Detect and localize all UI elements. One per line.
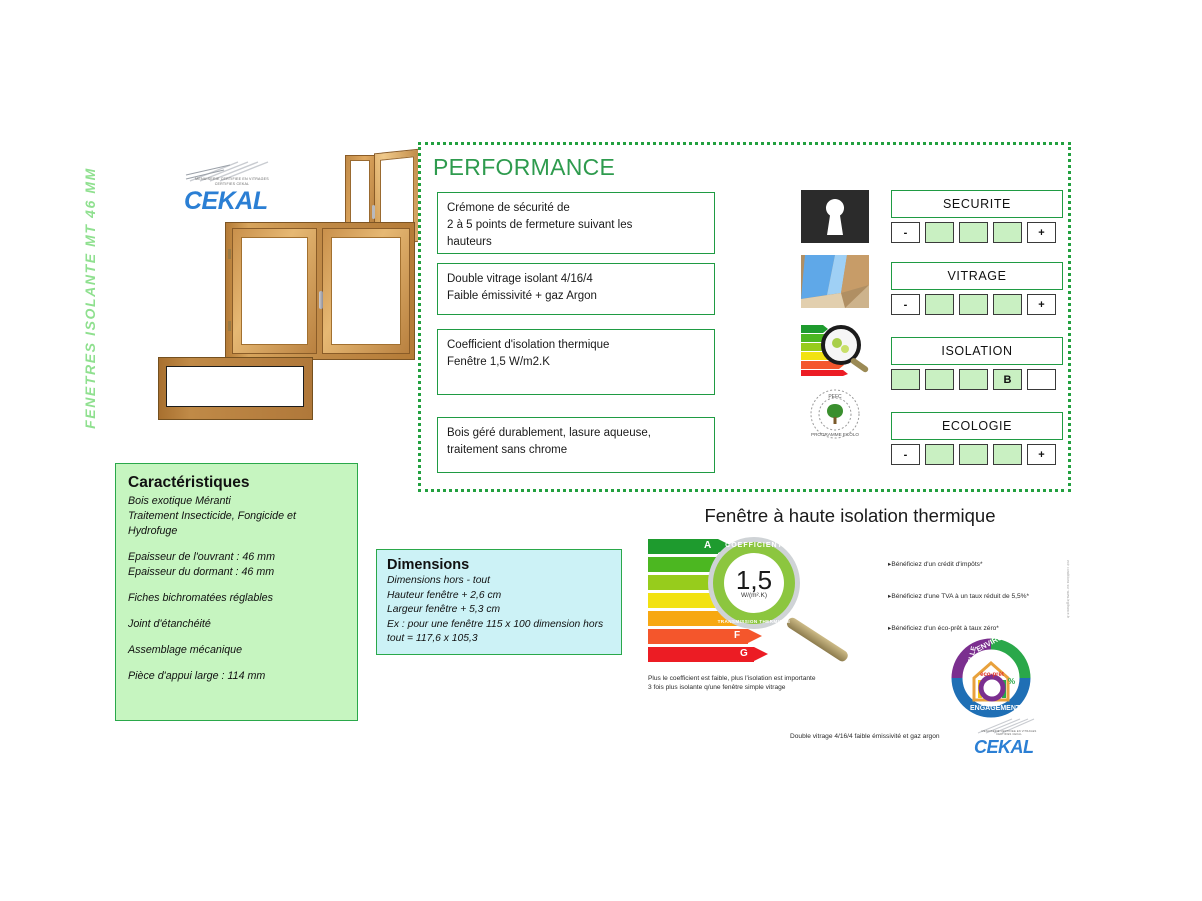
rating-cell-minus[interactable]: -: [891, 444, 920, 465]
energy-rating-chart: A F G COEFFICIE: [648, 537, 823, 669]
rating-cell[interactable]: [959, 294, 988, 315]
caracteristiques-line: Bois exotique Méranti: [128, 494, 345, 509]
window-handle-icon: [319, 291, 323, 309]
benefit-item: Bénéficiez d'un éco-prêt à taux zéro*: [888, 624, 1029, 632]
rating-scale-securite[interactable]: - +: [891, 222, 1056, 243]
dimensions-line: tout = 117,6 x 105,3: [387, 632, 611, 647]
window-glass-icon: [801, 255, 869, 308]
cekal-microtext: MENUISERIE CERTIFIEE EN VITRAGES CERTIFI…: [976, 730, 1042, 737]
coefficient-magnifier: COEFFICIENT TRANSMISSION THERMIQUE 1,5 W…: [708, 537, 800, 629]
thermal-footnote: Plus le coefficient est faible, plus l'i…: [648, 674, 816, 692]
cekal-caption: Double vitrage 4/16/4 faible émissivité …: [790, 733, 940, 740]
keyhole-icon: [801, 190, 869, 243]
window-photo-transom: [158, 357, 313, 420]
coefficient-ring-bottom-label: TRANSMISSION THERMIQUE: [708, 619, 800, 624]
window-hinge-icon: [228, 249, 231, 259]
rating-scale-ecologie[interactable]: - +: [891, 444, 1056, 465]
caracteristiques-title: Caractéristiques: [128, 474, 345, 492]
rating-cell[interactable]: [959, 222, 988, 243]
window-photo-double-casement: [225, 222, 415, 360]
dimensions-line: Largeur fenêtre + 5,3 cm: [387, 603, 611, 618]
caracteristiques-line: Joint d'étanchéité: [128, 617, 345, 632]
rating-cell[interactable]: [891, 369, 920, 390]
benefit-item: Bénéficiez d'un crédit d'impôts*: [888, 560, 1029, 568]
rating-cell[interactable]: [925, 222, 954, 243]
rating-cell[interactable]: [925, 444, 954, 465]
rating-cell[interactable]: [959, 369, 988, 390]
energy-magnifier-icon: [801, 323, 869, 376]
window-handle-icon: [372, 205, 375, 219]
caracteristiques-line: Fiches bichromatées réglables: [128, 591, 345, 606]
dimensions-line: Dimensions hors - tout: [387, 574, 611, 589]
window-sash-right: [322, 228, 410, 354]
dimensions-panel: Dimensions Dimensions hors - tout Hauteu…: [376, 549, 622, 655]
pefc-tree-icon: PEFC PROGRAMME ECOLO: [801, 388, 869, 441]
coefficient-value: 1,5: [736, 568, 772, 592]
svg-text:PROGRAMME ECOLO: PROGRAMME ECOLO: [811, 432, 859, 437]
svg-text:%: %: [1008, 677, 1015, 686]
rating-cell-plus[interactable]: +: [1027, 222, 1056, 243]
rating-label-vitrage: VITRAGE: [891, 262, 1063, 290]
rating-cell-minus[interactable]: -: [891, 294, 920, 315]
rating-cell[interactable]: [993, 294, 1022, 315]
rating-cell[interactable]: [993, 222, 1022, 243]
performance-panel: PERFORMANCE Crémone de sécurité de 2 à 5…: [418, 142, 1071, 492]
caracteristiques-line: Epaisseur de l'ouvrant : 46 mm: [128, 550, 345, 565]
window-hinge-icon: [228, 321, 231, 331]
cekal-logo-top: MENUISERIE CERTIFIEE EN VITRAGES CERTIFI…: [178, 165, 278, 215]
dimensions-line: Ex : pour une fenêtre 115 x 100 dimensio…: [387, 618, 611, 633]
rating-cell[interactable]: [993, 444, 1022, 465]
window-glass-pane: [166, 366, 304, 407]
cekal-microtext: MENUISERIE CERTIFIEE EN VITRAGES CERTIFI…: [186, 177, 278, 186]
poster-canvas: FENETRES ISOLANTE MT 46 MM MENUISERIE CE…: [0, 0, 1202, 901]
cekal-logo-bottom: MENUISERIE CERTIFIEE EN VITRAGES CERTIFI…: [968, 722, 1040, 760]
window-sash-left: [232, 228, 317, 354]
cekal-wordmark: CEKAL: [184, 187, 268, 216]
rating-cell-minus[interactable]: -: [891, 222, 920, 243]
rating-cell-empty[interactable]: [1027, 369, 1056, 390]
cekal-wordmark: CEKAL: [974, 737, 1034, 758]
rating-cell-grade-b[interactable]: B: [993, 369, 1022, 390]
rating-scale-vitrage[interactable]: - +: [891, 294, 1056, 315]
rating-cell[interactable]: [959, 444, 988, 465]
caracteristiques-line: Assemblage mécanique: [128, 643, 345, 658]
svg-text:ENGAGEMENTS: ENGAGEMENTS: [970, 705, 1025, 712]
thermal-title: Fenêtre à haute isolation thermique: [640, 505, 1060, 527]
caracteristiques-line: Traitement Insecticide, Fongicide et: [128, 509, 345, 524]
rating-scale-isolation[interactable]: B: [891, 369, 1056, 390]
coefficient-unit: W/(m².K): [741, 592, 767, 599]
rating-cell-plus[interactable]: +: [1027, 294, 1056, 315]
product-vertical-title: FENETRES ISOLANTE MT 46 MM: [82, 148, 98, 448]
rating-label-securite: SECURITE: [891, 190, 1063, 218]
performance-box-glazing: Double vitrage isolant 4/16/4 Faible émi…: [437, 263, 715, 315]
legal-vertical-text: voir conditions sur www.legifrance.fr: [1060, 560, 1070, 670]
rating-cell[interactable]: [925, 369, 954, 390]
svg-text:éco-prêt: éco-prêt: [980, 672, 1004, 678]
performance-title: PERFORMANCE: [433, 154, 615, 181]
dimensions-title: Dimensions: [387, 557, 611, 573]
caracteristiques-line: Hydrofuge: [128, 524, 345, 539]
rating-cell-plus[interactable]: +: [1027, 444, 1056, 465]
rating-label-ecologie: ECOLOGIE: [891, 412, 1063, 440]
grenelle-environnement-logo: ENVIRON GRENELLE ENGAGEMENTS éco-prêt %: [948, 638, 1034, 718]
caracteristiques-line: Pièce d'appui large : 114 mm: [128, 669, 345, 684]
caracteristiques-line: Epaisseur du dormant : 46 mm: [128, 565, 345, 580]
performance-box-wood: Bois géré durablement, lasure aqueuse, t…: [437, 417, 715, 473]
caracteristiques-panel: Caractéristiques Bois exotique Méranti T…: [115, 463, 358, 721]
performance-box-cremone: Crémone de sécurité de 2 à 5 points de f…: [437, 192, 715, 254]
rating-label-isolation: ISOLATION: [891, 337, 1063, 365]
svg-text:PEFC: PEFC: [828, 394, 842, 400]
coefficient-ring-top-label: COEFFICIENT: [708, 542, 800, 549]
performance-box-thermal: Coefficient d'isolation thermique Fenêtr…: [437, 329, 715, 395]
dimensions-line: Hauteur fenêtre + 2,6 cm: [387, 589, 611, 604]
rating-cell[interactable]: [925, 294, 954, 315]
benefit-item: Bénéficiez d'une TVA à un taux réduit de…: [888, 592, 1029, 600]
